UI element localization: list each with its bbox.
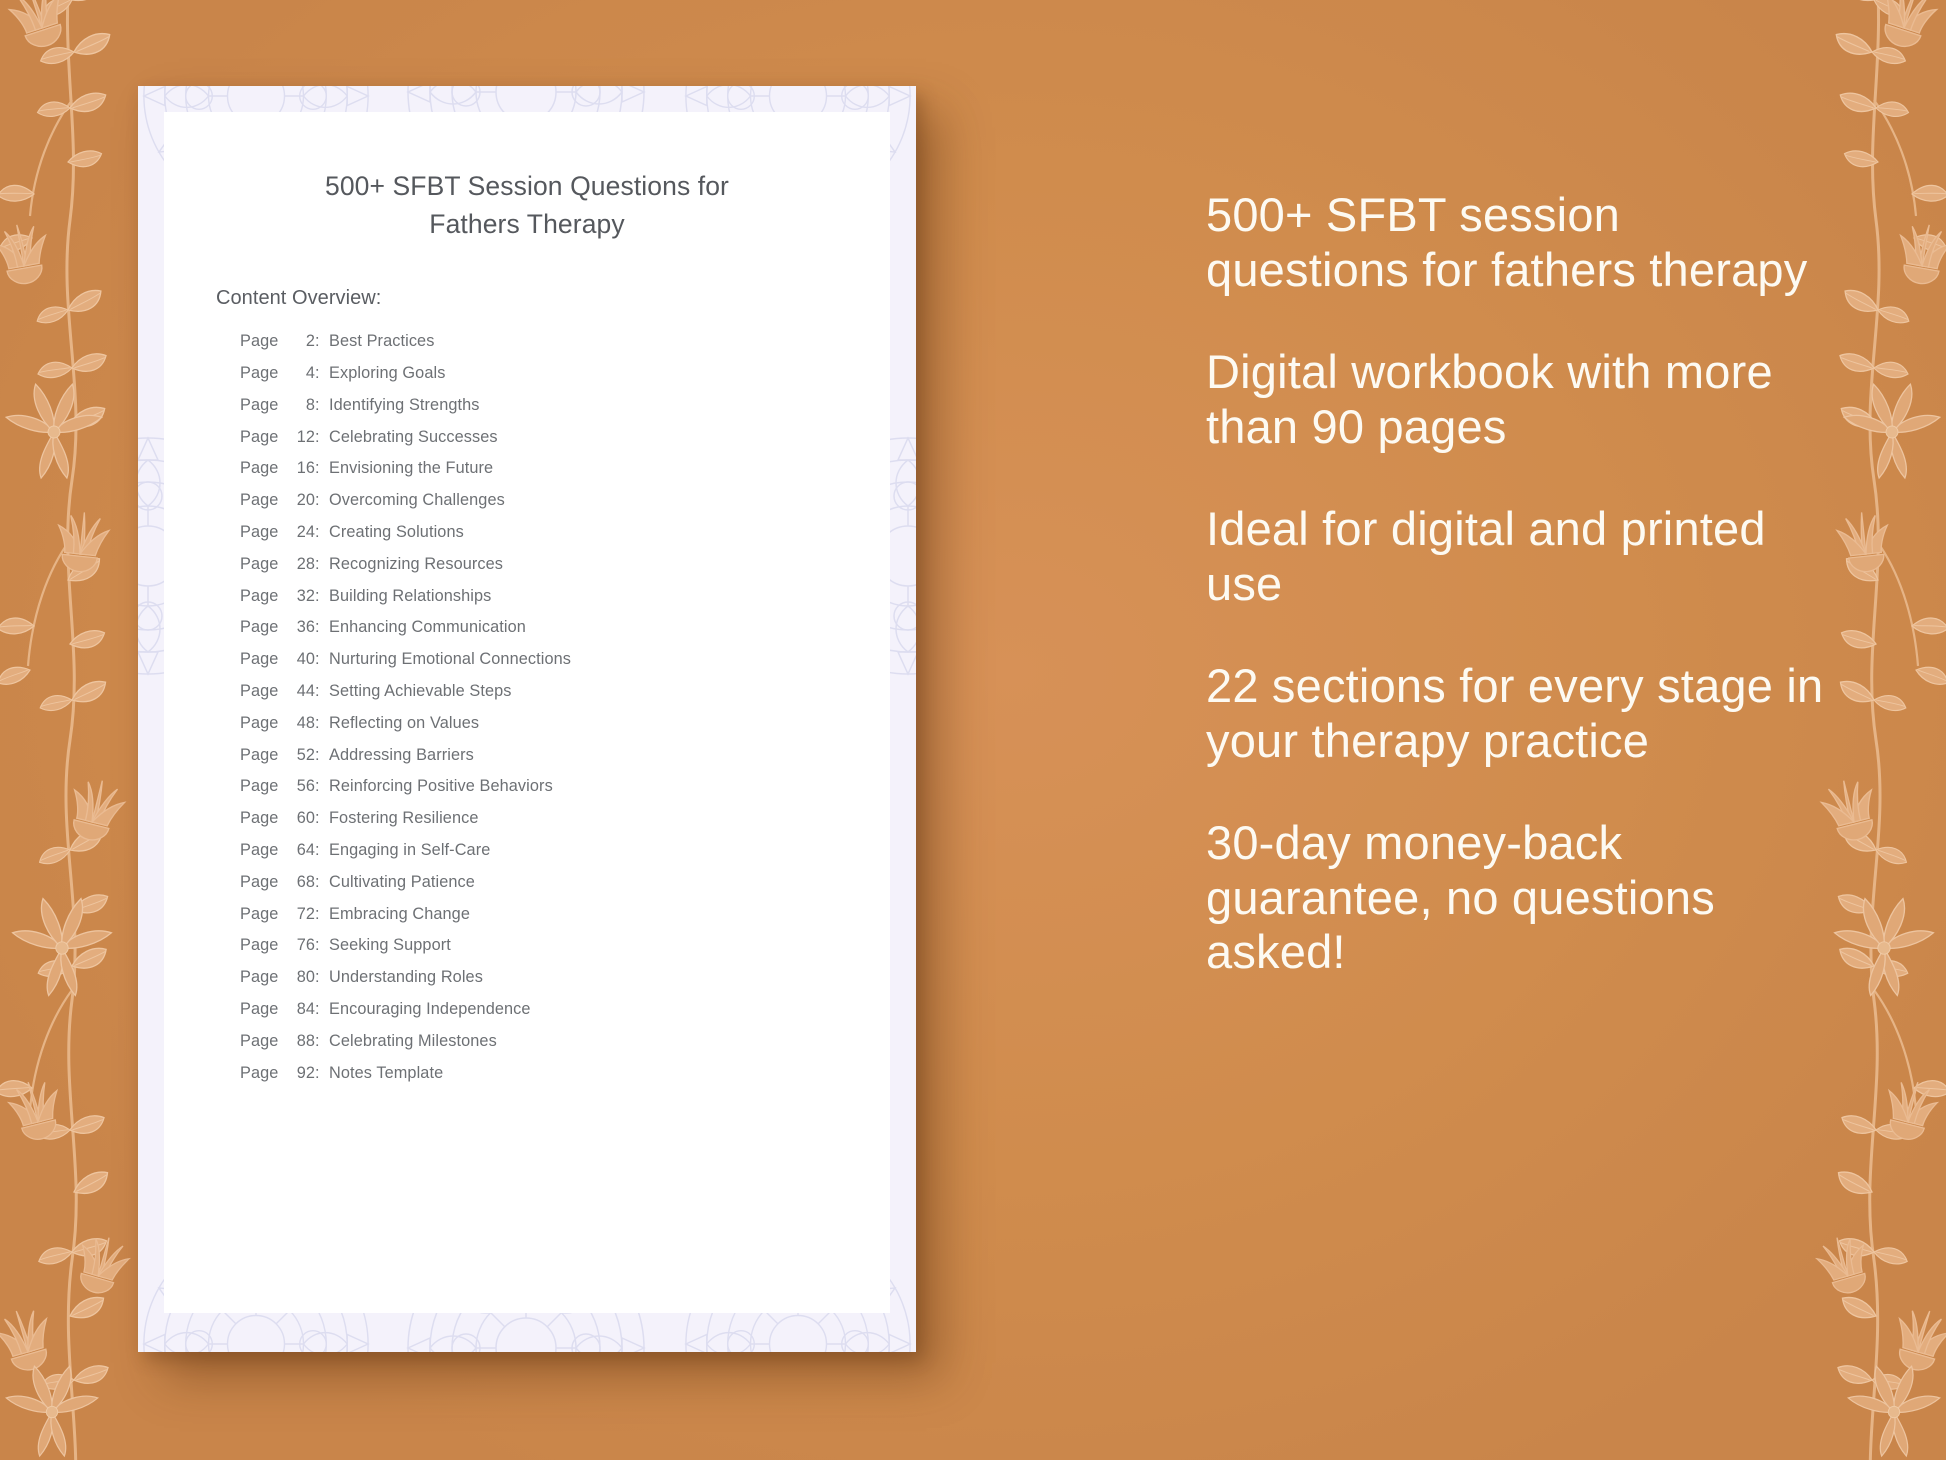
toc-section-title: Setting Achievable Steps <box>329 682 512 701</box>
toc-colon: : <box>315 555 329 574</box>
toc-page-word: Page <box>240 1064 285 1083</box>
toc-section-title: Recognizing Resources <box>329 555 503 574</box>
toc-section-title: Overcoming Challenges <box>329 491 505 510</box>
toc-colon: : <box>315 746 329 765</box>
toc-page-number: 92 <box>285 1064 315 1083</box>
content-overview-label: Content Overview: <box>164 243 890 310</box>
toc-section-title: Creating Solutions <box>329 523 464 542</box>
toc-section-title: Celebrating Milestones <box>329 1032 497 1051</box>
list-item[interactable]: Page80:Understanding Roles <box>240 968 890 1000</box>
list-item[interactable]: Page2:Best Practices <box>240 332 890 364</box>
toc-colon: : <box>315 968 329 987</box>
list-item[interactable]: Page56:Reinforcing Positive Behaviors <box>240 777 890 809</box>
toc-page-word: Page <box>240 905 285 924</box>
toc-section-title: Embracing Change <box>329 905 470 924</box>
toc-page-word: Page <box>240 1032 285 1051</box>
list-item[interactable]: Page16:Envisioning the Future <box>240 459 890 491</box>
promo-slide: 500+ SFBT Session Questions forFathers T… <box>0 0 1946 1460</box>
list-item[interactable]: Page4:Exploring Goals <box>240 364 890 396</box>
list-item[interactable]: Page8:Identifying Strengths <box>240 396 890 428</box>
toc-colon: : <box>315 714 329 733</box>
document-page: 500+ SFBT Session Questions forFathers T… <box>164 112 890 1313</box>
toc-colon: : <box>315 1032 329 1051</box>
toc-section-title: Engaging in Self-Care <box>329 841 490 860</box>
list-item[interactable]: Page68:Cultivating Patience <box>240 873 890 905</box>
toc-page-word: Page <box>240 491 285 510</box>
toc-page-word: Page <box>240 746 285 765</box>
page-title-line-1: 500+ SFBT Session Questions for <box>325 171 729 201</box>
toc-page-word: Page <box>240 428 285 447</box>
toc-page-number: 16 <box>285 459 315 478</box>
toc-page-word: Page <box>240 555 285 574</box>
toc-colon: : <box>315 587 329 606</box>
toc-colon: : <box>315 905 329 924</box>
toc-section-title: Seeking Support <box>329 936 451 955</box>
toc-section-title: Best Practices <box>329 332 434 351</box>
document-preview-card[interactable]: 500+ SFBT Session Questions forFathers T… <box>138 86 916 1352</box>
toc-colon: : <box>315 428 329 447</box>
toc-section-title: Building Relationships <box>329 587 491 606</box>
marketing-line-4: 22 sections for every stage in your ther… <box>1206 659 1826 768</box>
toc-page-word: Page <box>240 714 285 733</box>
toc-page-word: Page <box>240 809 285 828</box>
toc-page-number: 8 <box>285 396 315 415</box>
toc-page-number: 36 <box>285 618 315 637</box>
list-item[interactable]: Page76:Seeking Support <box>240 936 890 968</box>
toc-section-title: Reinforcing Positive Behaviors <box>329 777 553 796</box>
marketing-copy: 500+ SFBT session questions for fathers … <box>1206 188 1826 980</box>
toc-page-number: 48 <box>285 714 315 733</box>
toc-colon: : <box>315 650 329 669</box>
toc-page-number: 88 <box>285 1032 315 1051</box>
toc-section-title: Envisioning the Future <box>329 459 493 478</box>
toc-colon: : <box>315 523 329 542</box>
list-item[interactable]: Page36:Enhancing Communication <box>240 618 890 650</box>
toc-colon: : <box>315 491 329 510</box>
toc-page-number: 80 <box>285 968 315 987</box>
toc-page-word: Page <box>240 968 285 987</box>
toc-page-word: Page <box>240 682 285 701</box>
toc-colon: : <box>315 682 329 701</box>
toc-page-number: 28 <box>285 555 315 574</box>
marketing-line-1: 500+ SFBT session questions for fathers … <box>1206 188 1826 297</box>
list-item[interactable]: Page40:Nurturing Emotional Connections <box>240 650 890 682</box>
toc-section-title: Fostering Resilience <box>329 809 479 828</box>
toc-page-number: 64 <box>285 841 315 860</box>
toc-section-title: Notes Template <box>329 1064 443 1083</box>
toc-page-number: 60 <box>285 809 315 828</box>
toc-page-number: 84 <box>285 1000 315 1019</box>
toc-section-title: Reflecting on Values <box>329 714 479 733</box>
list-item[interactable]: Page28:Recognizing Resources <box>240 555 890 587</box>
toc-colon: : <box>315 936 329 955</box>
toc-page-word: Page <box>240 364 285 383</box>
list-item[interactable]: Page72:Embracing Change <box>240 905 890 937</box>
toc-page-word: Page <box>240 618 285 637</box>
list-item[interactable]: Page60:Fostering Resilience <box>240 809 890 841</box>
list-item[interactable]: Page20:Overcoming Challenges <box>240 491 890 523</box>
toc-page-word: Page <box>240 523 285 542</box>
toc-page-word: Page <box>240 650 285 669</box>
toc-colon: : <box>315 364 329 383</box>
toc-page-word: Page <box>240 332 285 351</box>
toc-colon: : <box>315 841 329 860</box>
toc-section-title: Understanding Roles <box>329 968 483 987</box>
list-item[interactable]: Page84:Encouraging Independence <box>240 1000 890 1032</box>
toc-colon: : <box>315 459 329 478</box>
toc-page-word: Page <box>240 587 285 606</box>
toc-page-number: 20 <box>285 491 315 510</box>
list-item[interactable]: Page48:Reflecting on Values <box>240 714 890 746</box>
page-title: 500+ SFBT Session Questions forFathers T… <box>164 112 890 243</box>
list-item[interactable]: Page64:Engaging in Self-Care <box>240 841 890 873</box>
toc-colon: : <box>315 396 329 415</box>
toc-section-title: Addressing Barriers <box>329 746 474 765</box>
toc-page-number: 52 <box>285 746 315 765</box>
toc-page-word: Page <box>240 1000 285 1019</box>
toc-page-number: 76 <box>285 936 315 955</box>
toc-page-word: Page <box>240 396 285 415</box>
toc-page-number: 2 <box>285 332 315 351</box>
toc-colon: : <box>315 873 329 892</box>
list-item[interactable]: Page12:Celebrating Successes <box>240 428 890 460</box>
list-item[interactable]: Page24:Creating Solutions <box>240 523 890 555</box>
toc-colon: : <box>315 1064 329 1083</box>
toc-page-word: Page <box>240 873 285 892</box>
toc-page-number: 4 <box>285 364 315 383</box>
list-item[interactable]: Page92:Notes Template <box>240 1064 890 1096</box>
toc-page-number: 12 <box>285 428 315 447</box>
toc-page-word: Page <box>240 777 285 796</box>
toc-page-word: Page <box>240 936 285 955</box>
toc-page-number: 56 <box>285 777 315 796</box>
toc-page-number: 40 <box>285 650 315 669</box>
list-item[interactable]: Page52:Addressing Barriers <box>240 746 890 778</box>
toc-page-word: Page <box>240 841 285 860</box>
toc-page-number: 44 <box>285 682 315 701</box>
toc-page-number: 68 <box>285 873 315 892</box>
marketing-line-5: 30-day money-back guarantee, no question… <box>1206 816 1826 980</box>
toc-colon: : <box>315 777 329 796</box>
toc-page-number: 24 <box>285 523 315 542</box>
toc-colon: : <box>315 332 329 351</box>
toc-colon: : <box>315 1000 329 1019</box>
marketing-line-2: Digital workbook with more than 90 pages <box>1206 345 1826 454</box>
toc-section-title: Cultivating Patience <box>329 873 475 892</box>
toc-section-title: Encouraging Independence <box>329 1000 531 1019</box>
toc-page-word: Page <box>240 459 285 478</box>
list-item[interactable]: Page32:Building Relationships <box>240 587 890 619</box>
table-of-contents-list: Page2:Best Practices Page4:Exploring Goa… <box>164 310 890 1095</box>
toc-section-title: Nurturing Emotional Connections <box>329 650 571 669</box>
toc-page-number: 72 <box>285 905 315 924</box>
toc-section-title: Enhancing Communication <box>329 618 526 637</box>
page-title-line-2: Fathers Therapy <box>429 209 624 239</box>
marketing-line-3: Ideal for digital and printed use <box>1206 502 1826 611</box>
toc-section-title: Exploring Goals <box>329 364 445 383</box>
list-item[interactable]: Page44:Setting Achievable Steps <box>240 682 890 714</box>
toc-section-title: Celebrating Successes <box>329 428 498 447</box>
toc-section-title: Identifying Strengths <box>329 396 480 415</box>
toc-colon: : <box>315 618 329 637</box>
toc-colon: : <box>315 809 329 828</box>
list-item[interactable]: Page88:Celebrating Milestones <box>240 1032 890 1064</box>
toc-page-number: 32 <box>285 587 315 606</box>
